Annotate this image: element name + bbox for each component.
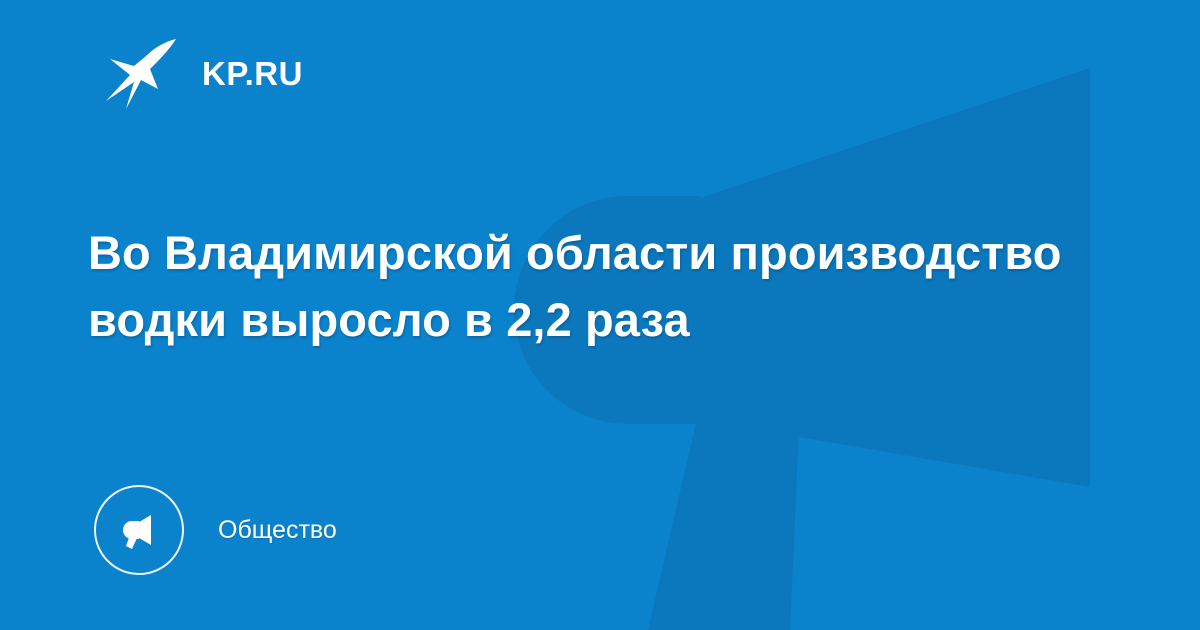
megaphone-icon <box>117 508 161 552</box>
category-badge[interactable]: Общество <box>94 484 337 576</box>
page-title: Во Владимирской области производство вод… <box>88 219 1108 353</box>
brand-name: KP.RU <box>202 57 303 90</box>
social-share-card: KP.RU Во Владимирской области производст… <box>0 0 1200 630</box>
swallow-bird-icon <box>104 33 184 111</box>
category-icon-circle <box>94 485 184 575</box>
category-label: Общество <box>218 518 337 543</box>
brand-logo[interactable]: KP.RU <box>104 33 303 111</box>
